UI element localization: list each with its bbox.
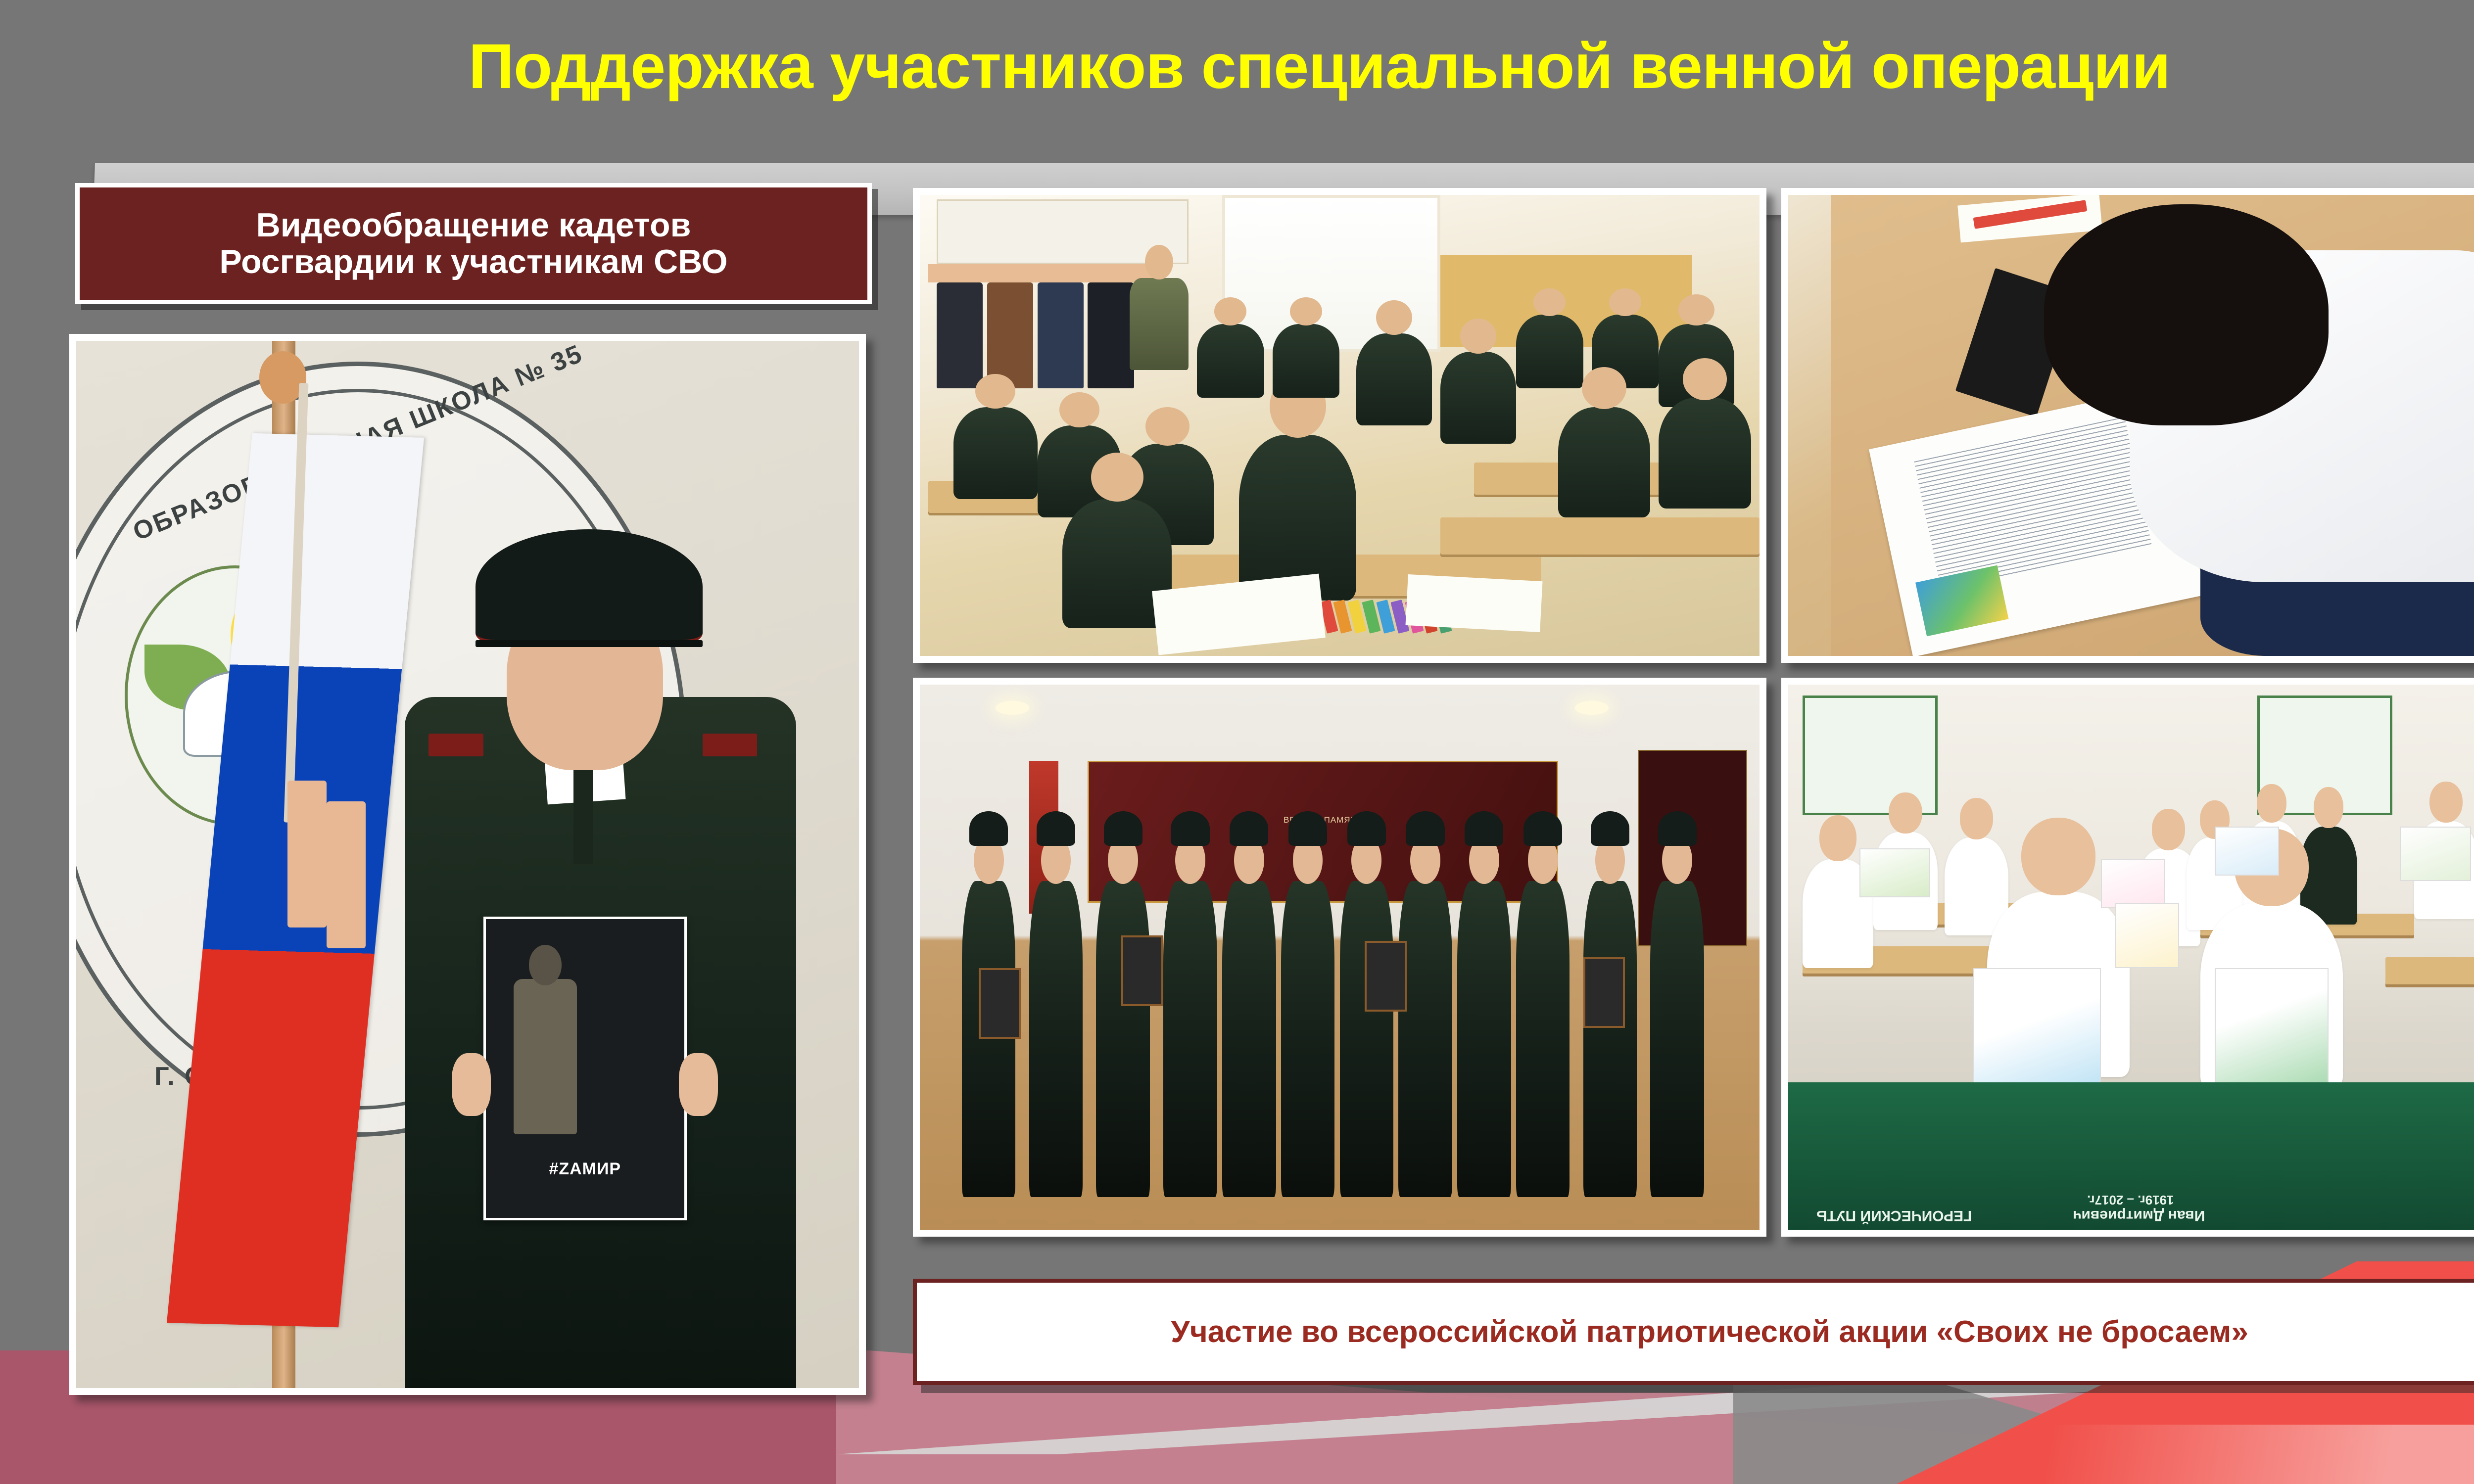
childs-drawing: [1859, 848, 1931, 897]
childs-drawing-front: [2215, 968, 2329, 1099]
epaulet-right: [703, 734, 758, 757]
photo-image: ВЕЧНАЯ ПАМЯТЬ: [920, 685, 1760, 1230]
photo-letter-writing: [1781, 188, 2474, 663]
photo-image: ГЕРОИЧЕСКИЙ ПУТЬ Иван Дмитриевич 1919г. …: [1788, 685, 2474, 1230]
poster-label: #ZAMИР: [549, 1159, 621, 1179]
left-banner: Видеообращение кадетов Росгвардии к учас…: [75, 183, 872, 304]
photo-image: ОБРАЗОВАТЕЛЬНАЯ ШКОЛА № 35 Г. ОРЕХ #ZAMИ…: [76, 341, 859, 1388]
desk: [1440, 517, 1760, 555]
flag-tassel: [327, 801, 366, 948]
banner-title: ГЕРОИЧЕСКИЙ ПУТЬ: [1816, 1207, 1972, 1224]
hand-right: [679, 1053, 718, 1116]
cadet-person: [1650, 881, 1704, 1197]
cadet-pupil: [1659, 398, 1751, 509]
left-banner-text: Видеообращение кадетов Росгвардии к учас…: [219, 207, 727, 280]
childs-drawing: [2400, 827, 2471, 881]
zamir-poster: #ZAMИР: [483, 917, 687, 1220]
pale-highlight: [1798, 1425, 2474, 1484]
letter-illustration: [1915, 565, 2008, 637]
ceiling-lamp: [1575, 701, 1609, 715]
cadet-person: [1516, 881, 1570, 1197]
cadet-person: [1398, 881, 1452, 1197]
cadet-pupil: [1197, 324, 1264, 398]
ceiling-lamp: [996, 701, 1029, 715]
framed-poster: [1365, 941, 1407, 1012]
cadet-peaked-cap: [476, 529, 703, 645]
necktie: [573, 770, 593, 865]
coat: [987, 282, 1033, 388]
cadet-person: [1583, 881, 1637, 1197]
coat: [1038, 282, 1084, 388]
cadet-pupil: [1558, 407, 1651, 518]
page-title: Поддержка участников специальной венной …: [469, 34, 2170, 100]
cadet-person: [1340, 881, 1394, 1197]
soldier-silhouette: [514, 979, 577, 1134]
childs-drawing: [2115, 903, 2179, 968]
photo-classroom-drawing: [913, 188, 1766, 663]
cadet-person: [1222, 881, 1276, 1197]
photo-cadet-video-address: ОБРАЗОВАТЕЛЬНАЯ ШКОЛА № 35 Г. ОРЕХ #ZAMИ…: [69, 334, 866, 1395]
cadet-person: [962, 881, 1016, 1197]
framed-poster: [979, 968, 1021, 1039]
photo-cadets-group: ВЕЧНАЯ ПАМЯТЬ: [913, 678, 1766, 1237]
cadet-pupil: [953, 407, 1038, 499]
photo-pupils-drawings: ГЕРОИЧЕСКИЙ ПУТЬ Иван Дмитриевич 1919г. …: [1781, 678, 2474, 1237]
pupil-head: [2044, 204, 2329, 425]
framed-poster: [1583, 957, 1625, 1028]
cadet-person: [1281, 881, 1335, 1197]
childs-drawing-front: [1973, 968, 2101, 1088]
epaulet-left: [428, 734, 483, 757]
cadet-pupil: [1516, 315, 1583, 388]
cadet-person: [1096, 881, 1150, 1197]
framed-poster: [1121, 935, 1163, 1006]
photo-image: [1788, 195, 2474, 656]
cadet-person: [1163, 881, 1217, 1197]
heroic-path-banner: ГЕРОИЧЕСКИЙ ПУТЬ Иван Дмитриевич 1919г. …: [1788, 1082, 2474, 1230]
desk: [2385, 957, 2474, 984]
caption-text: Участие во всероссийской патриотической …: [1171, 1314, 2248, 1349]
childs-drawing: [2215, 827, 2279, 876]
banner-years: 1919г. – 2017г.: [2087, 1192, 2174, 1207]
instructor-camouflage: [1130, 278, 1189, 370]
banner-name: Иван Дмитриевич: [2073, 1207, 2205, 1224]
cadet-person: [1457, 881, 1511, 1197]
flag-tassel: [287, 781, 327, 927]
drawing-sheet: [1406, 574, 1543, 632]
presentation-slide: Поддержка участников специальной венной …: [0, 0, 2474, 1484]
handwritten-lines: [1914, 417, 2152, 590]
coat-rack: [928, 264, 1163, 282]
coat: [1088, 282, 1134, 388]
cadet-pupil: [1273, 324, 1340, 398]
bottom-caption-box: Участие во всероссийской патриотической …: [913, 1279, 2474, 1385]
cadet-person: [1029, 881, 1083, 1197]
photo-image: [920, 195, 1760, 656]
title-bar: Поддержка участников специальной венной …: [0, 15, 2474, 119]
childs-drawing: [2101, 859, 2165, 908]
cadet-pupil: [1356, 333, 1432, 425]
coat: [937, 282, 983, 388]
cadet-pupil: [1440, 352, 1516, 444]
hand-left: [452, 1053, 491, 1116]
